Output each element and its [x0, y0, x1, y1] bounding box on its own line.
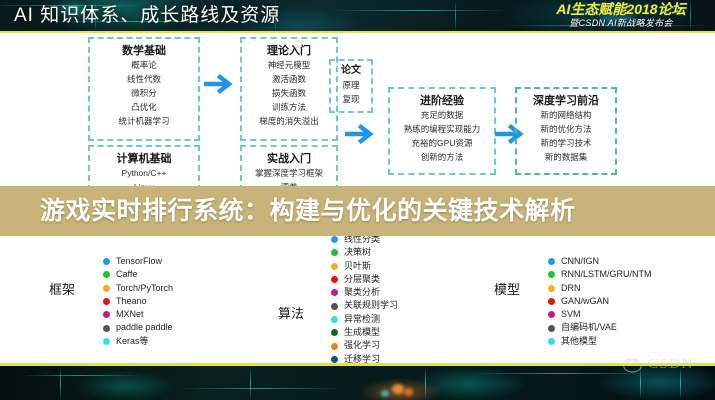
- box-frontier: 深度学习前沿 新的网络结构 新的优化方法 新的学习技术 新的数据集: [515, 87, 617, 175]
- list-item-label: 聚类分析: [344, 286, 380, 299]
- list-item: Torch/PyTorch: [103, 282, 173, 295]
- list-item: 聚类分析: [331, 286, 398, 299]
- screenshot-root: AI 知识体系、成长路线及资源 AI生态赋能2018论坛 暨CSDN AI新战略…: [0, 0, 715, 400]
- csdn-watermark: CSDN: [622, 356, 694, 373]
- box-item: 新的数据集: [517, 150, 615, 164]
- list-item-label: 强化学习: [344, 339, 380, 352]
- list-item: DRN: [548, 282, 652, 295]
- decorative-streak: [60, 366, 61, 400]
- box-theory: 理论入门 神经元模型 激活函数 损失函数 训练方法 梯度的消失溢出: [240, 37, 338, 141]
- decorative-glow: [381, 390, 389, 397]
- list-item: Keras等: [103, 335, 173, 348]
- color-dot: [331, 276, 338, 283]
- list-item: 自编码机/VAE: [548, 321, 652, 334]
- color-dot: [103, 298, 110, 305]
- list-item-label: SVM: [561, 308, 581, 321]
- list-item-label: 自编码机/VAE: [561, 321, 617, 334]
- list-item: TensorFlow: [103, 255, 173, 268]
- arrow-right-icon: [345, 123, 379, 145]
- box-item: 概率论: [90, 58, 198, 72]
- list-item-label: Theano: [116, 295, 147, 308]
- list-item-label: TensorFlow: [116, 255, 162, 268]
- box-paper: 论文 原理 复现: [329, 59, 373, 113]
- list-item-label: CNN/IGN: [561, 255, 599, 268]
- page-title: AI 知识体系、成长路线及资源: [14, 1, 280, 31]
- list-item: 生成模型: [331, 326, 398, 339]
- csdn-logo-icon: [622, 357, 643, 373]
- box-item: 充足的数据: [390, 108, 494, 122]
- legend-label: 模型: [494, 279, 520, 298]
- decorative-streak: [470, 373, 650, 374]
- box-item: 梯度的消失溢出: [242, 114, 336, 128]
- color-dot: [103, 258, 110, 265]
- box-title: 计算机基础: [90, 152, 198, 166]
- list-item-label: Torch/PyTorch: [116, 282, 173, 295]
- list-item: paddle paddle: [103, 321, 173, 334]
- box-item: 凸优化: [90, 100, 198, 114]
- box-item: 充裕的GPU资源: [390, 136, 494, 150]
- color-dot: [331, 236, 338, 243]
- box-item: 掌握深度学习框架: [242, 166, 336, 180]
- list-item-label: paddle paddle: [116, 321, 173, 334]
- list-item-label: Keras等: [116, 335, 149, 348]
- box-title: 数学基础: [90, 44, 198, 58]
- list-item: 强化学习: [331, 339, 398, 352]
- color-dot: [331, 249, 338, 256]
- decorative-streak: [20, 375, 140, 376]
- box-item: 训练方法: [242, 100, 336, 114]
- color-dot: [548, 271, 555, 278]
- color-dot: [331, 316, 338, 323]
- color-dot: [103, 271, 110, 278]
- footer-banner: [0, 366, 715, 400]
- list-item-label: 贝叶斯: [344, 260, 371, 273]
- box-math: 数学基础 概率论 线性代数 微积分 凸优化 统计机器学习: [88, 37, 200, 141]
- box-title: 进阶经验: [390, 94, 494, 108]
- box-item: 激活函数: [242, 72, 336, 86]
- box-item: 熟练的编程实现能力: [390, 122, 494, 136]
- forum-badge: AI生态赋能2018论坛 暨CSDN AI新战略发布会: [533, 1, 709, 31]
- list-item-label: 分层聚类: [344, 273, 380, 286]
- color-dot: [331, 289, 338, 296]
- list-item: CNN/IGN: [548, 255, 652, 268]
- box-item: 新的优化方法: [517, 122, 615, 136]
- color-dot: [548, 338, 555, 345]
- box-item: 神经元模型: [242, 58, 336, 72]
- list-item: Theano: [103, 295, 173, 308]
- list-item-label: 关联规则学习: [344, 299, 398, 312]
- list-item: 分层聚类: [331, 273, 398, 286]
- decorative-streak: [180, 388, 340, 389]
- list-item-label: 其他模型: [561, 335, 597, 348]
- box-item: 新的学习技术: [517, 136, 615, 150]
- decorative-streak: [250, 366, 251, 400]
- box-title: 论文: [331, 64, 371, 78]
- color-dot: [331, 263, 338, 270]
- color-dot: [548, 311, 555, 318]
- legend-label: 算法: [278, 303, 304, 322]
- list-item: GAN/wGAN: [548, 295, 652, 308]
- box-title: 实战入门: [242, 152, 336, 166]
- decorative-glow: [392, 384, 404, 394]
- overlay-title: 游戏实时排行系统：构建与优化的关键技术解析: [40, 186, 576, 236]
- box-item: 原理: [331, 78, 371, 92]
- arrow-right-icon: [204, 73, 238, 95]
- color-dot: [331, 329, 338, 336]
- forum-badge-title: AI生态赋能2018论坛: [533, 1, 709, 17]
- list-item: Caffe: [103, 268, 173, 281]
- color-dot: [331, 343, 338, 350]
- color-dot: [331, 303, 338, 310]
- list-item: MXNet: [103, 308, 173, 321]
- box-item: 线性代数: [90, 72, 198, 86]
- overlay-title-band: 游戏实时排行系统：构建与优化的关键技术解析: [0, 186, 715, 236]
- list-item: 关联规则学习: [331, 299, 398, 312]
- decorative-streak: [425, 366, 426, 400]
- list-item: 其他模型: [548, 335, 652, 348]
- box-item: 微积分: [90, 86, 198, 100]
- list-item-label: DRN: [561, 282, 581, 295]
- decorative-streak: [455, 0, 456, 32]
- color-dot: [548, 298, 555, 305]
- hero-banner: AI 知识体系、成长路线及资源 AI生态赋能2018论坛 暨CSDN AI新战略…: [0, 0, 715, 32]
- list-item: 贝叶斯: [331, 260, 398, 273]
- decorative-streak: [330, 10, 510, 11]
- list-item-label: 决策树: [344, 246, 371, 259]
- box-item: 统计机器学习: [90, 114, 198, 128]
- list-item-label: RNN/LSTM/GRU/NTM: [561, 268, 652, 281]
- list-item: SVM: [548, 308, 652, 321]
- color-dot: [103, 311, 110, 318]
- box-item: 复现: [331, 92, 371, 106]
- list-item: RNN/LSTM/GRU/NTM: [548, 268, 652, 281]
- color-dot: [548, 325, 555, 332]
- color-dot: [103, 338, 110, 345]
- box-title: 深度学习前沿: [517, 94, 615, 108]
- color-dot: [548, 285, 555, 292]
- box-item: 损失函数: [242, 86, 336, 100]
- list-item-label: GAN/wGAN: [561, 295, 609, 308]
- box-item: Python/C++: [90, 166, 198, 180]
- list-item-label: MXNet: [116, 308, 144, 321]
- box-title: 理论入门: [242, 44, 336, 58]
- color-dot: [331, 356, 338, 363]
- color-dot: [103, 325, 110, 332]
- color-dot: [548, 258, 555, 265]
- list-item-label: 异常检测: [344, 313, 380, 326]
- box-item: 创新的方法: [390, 150, 494, 164]
- list-item: 决策树: [331, 246, 398, 259]
- legend-label: 框架: [49, 279, 75, 298]
- list-item-label: Caffe: [116, 268, 137, 281]
- box-advanced: 进阶经验 充足的数据 熟练的编程实现能力 充裕的GPU资源 创新的方法: [388, 87, 496, 175]
- color-dot: [103, 285, 110, 292]
- list-item: 异常检测: [331, 313, 398, 326]
- list-item-label: 生成模型: [344, 326, 380, 339]
- csdn-watermark-text: CSDN: [648, 356, 694, 373]
- decorative-glow: [404, 388, 413, 396]
- box-item: 新的网络结构: [517, 108, 615, 122]
- forum-badge-subtitle: 暨CSDN AI新战略发布会: [533, 17, 709, 29]
